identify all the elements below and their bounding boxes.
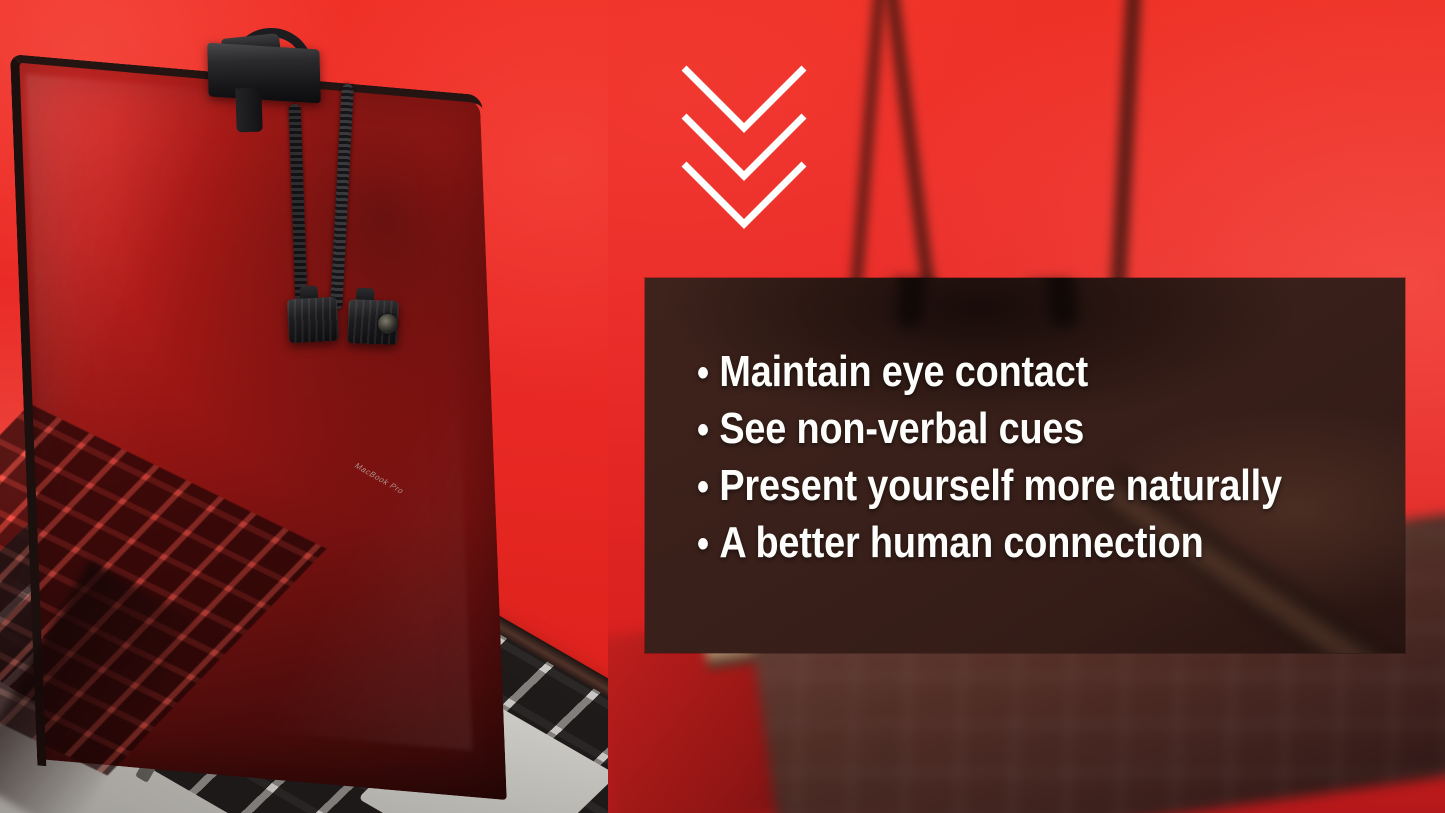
benefits-callout-box: • Maintain eye contact • See non-verbal … <box>645 278 1405 653</box>
list-item-label: See non-verbal cues <box>719 401 1084 457</box>
list-item-label: Present yourself more naturally <box>719 458 1281 514</box>
bullet-glyph: • <box>697 345 719 401</box>
clamp-arm <box>235 88 263 133</box>
camera-lens-icon <box>378 314 398 334</box>
list-item: • A better human connection <box>697 515 1289 572</box>
list-item: • Maintain eye contact <box>697 344 1289 401</box>
clamp-mount <box>207 43 321 104</box>
bullet-glyph: • <box>697 459 719 515</box>
list-item-label: Maintain eye contact <box>719 344 1088 400</box>
camera-head <box>287 297 339 344</box>
bullet-glyph: • <box>697 516 719 572</box>
chevron-down-triple-icon <box>676 60 812 230</box>
benefits-list: • Maintain eye contact • See non-verbal … <box>697 344 1385 572</box>
list-item-label: A better human connection <box>719 515 1203 571</box>
list-item: • Present yourself more naturally <box>697 458 1289 515</box>
product-photo: MacBook Pro <box>0 0 608 813</box>
promo-graphic: • Maintain eye contact • See non-verbal … <box>0 0 1445 813</box>
bullet-glyph: • <box>697 402 719 458</box>
list-item: • See non-verbal cues <box>697 401 1289 458</box>
chevron-down-icon <box>684 68 804 128</box>
